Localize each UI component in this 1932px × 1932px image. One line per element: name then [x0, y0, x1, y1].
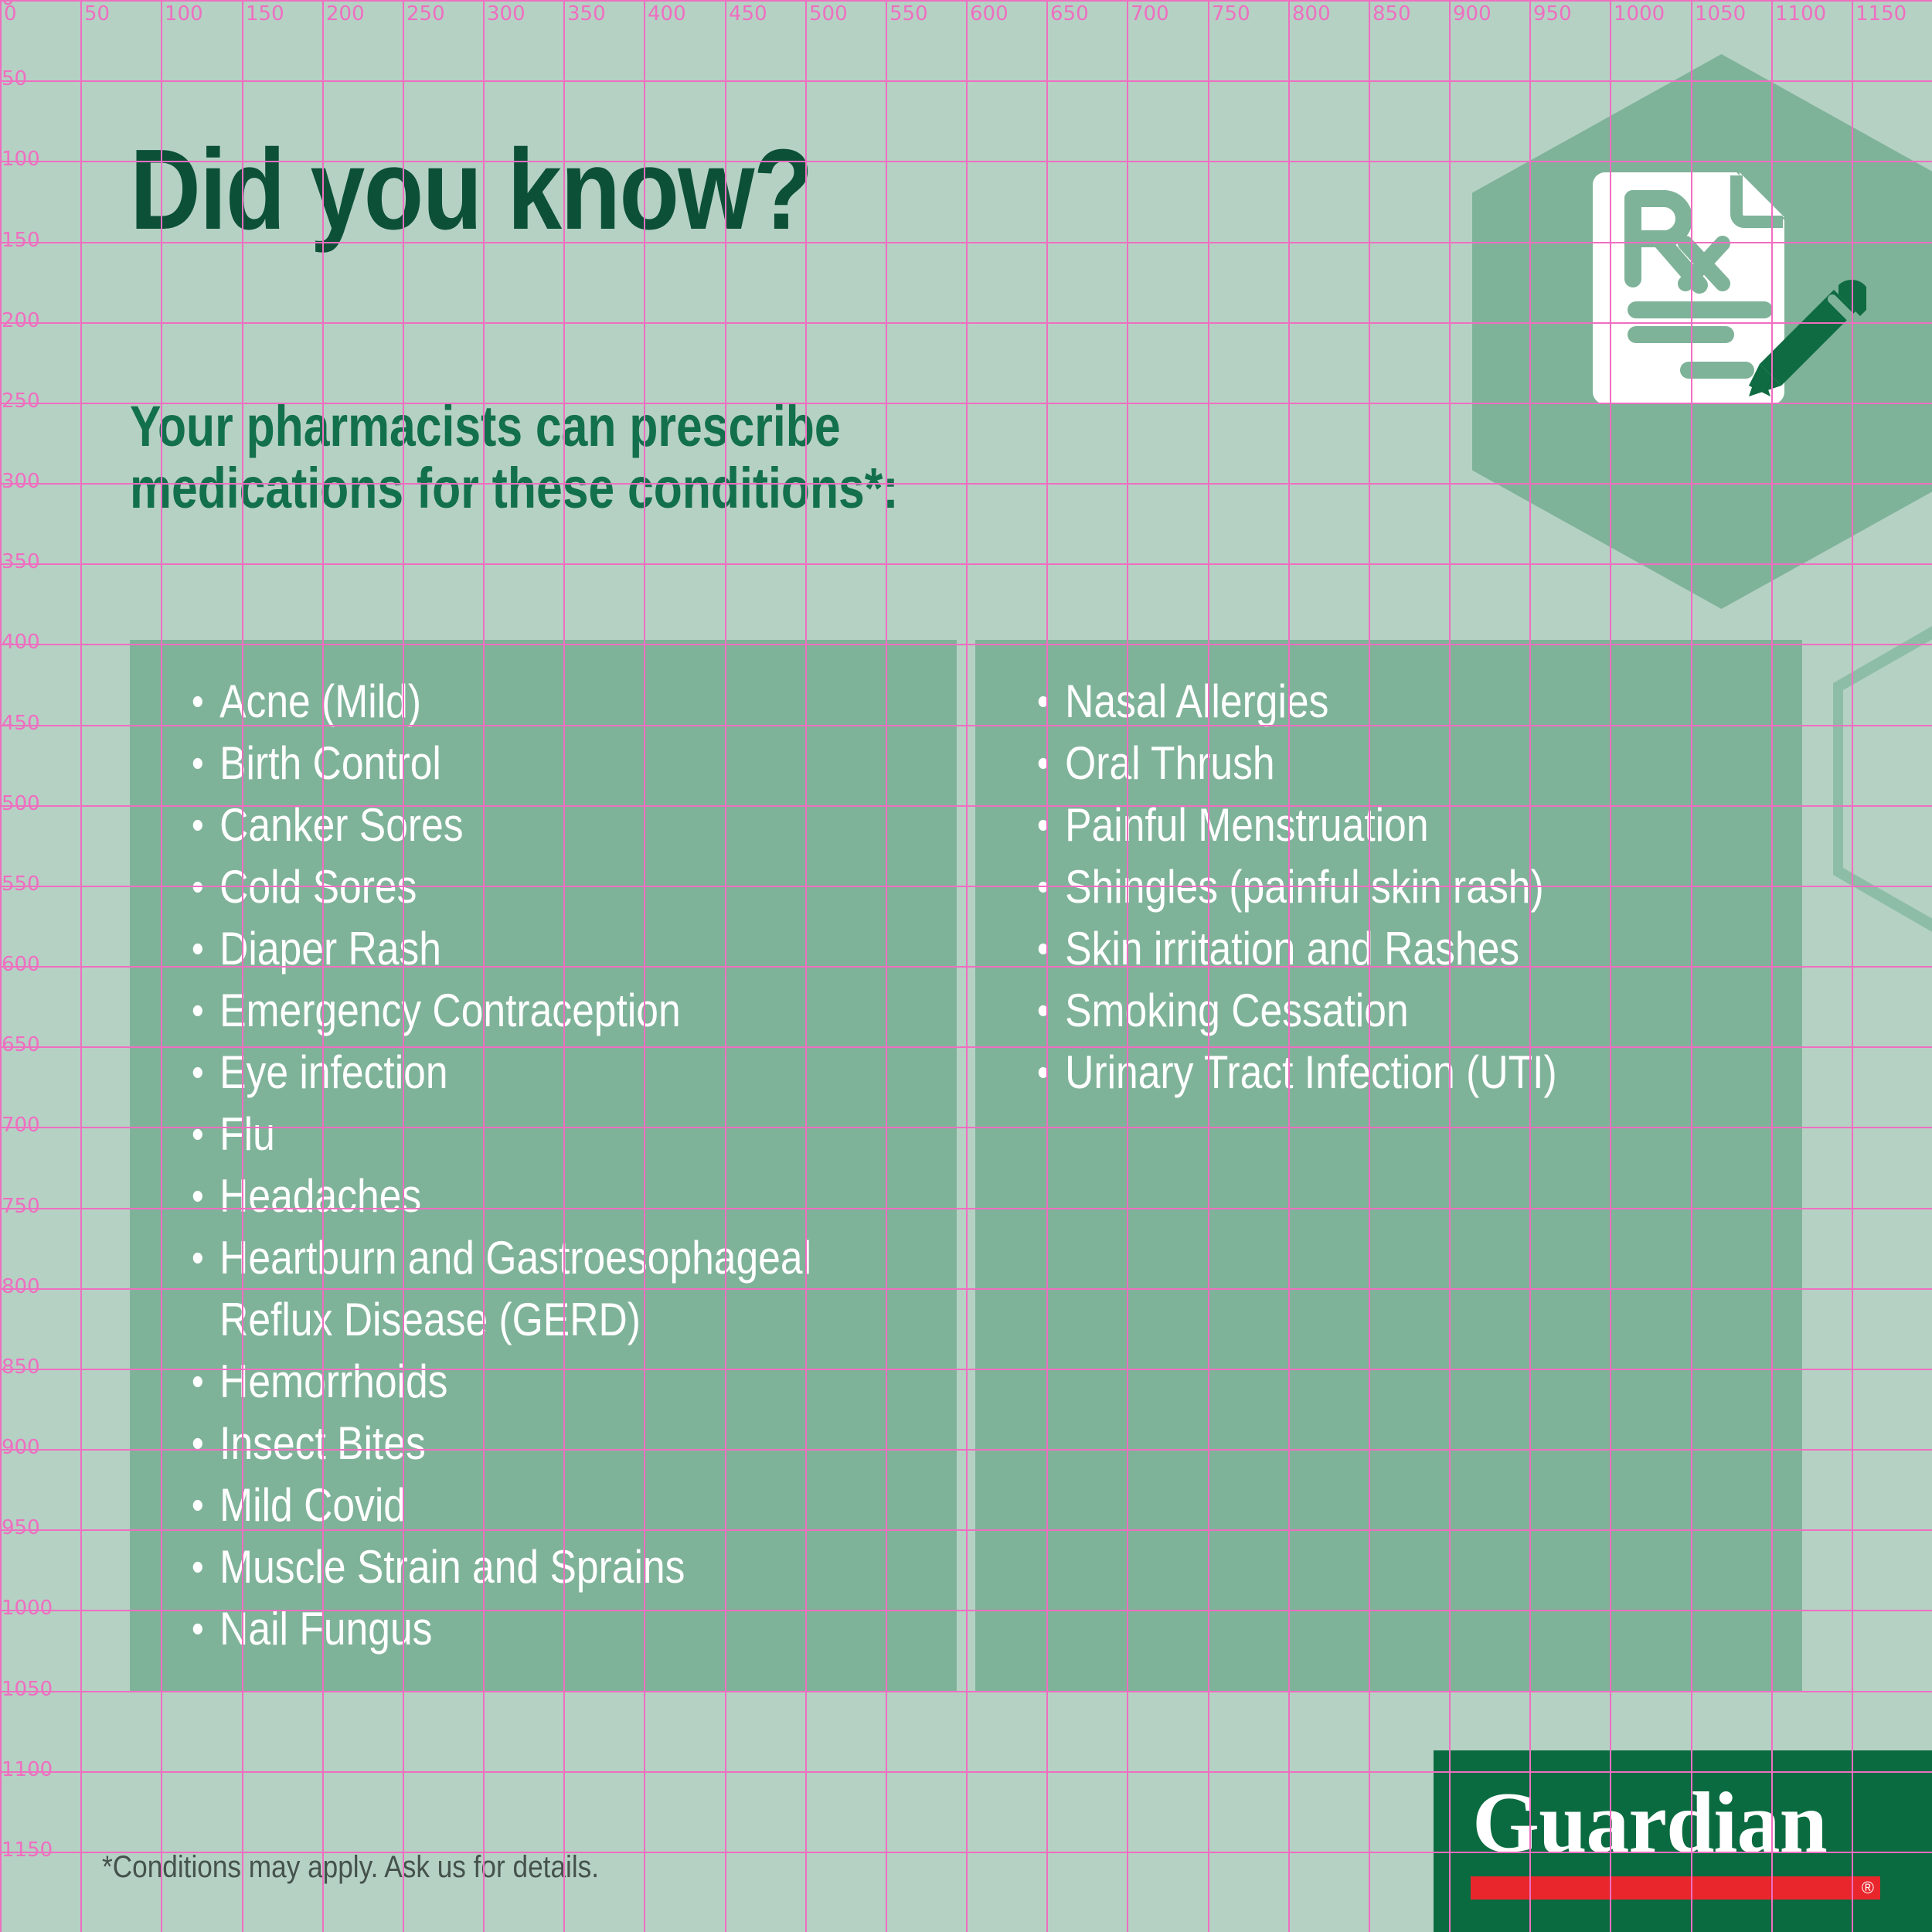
list-item: Painful Menstruation [1037, 794, 1689, 856]
prescription-pad-icon [1588, 158, 1866, 421]
grid-label-x: 250 [406, 3, 445, 25]
grid-label-x: 500 [809, 3, 848, 25]
conditions-panel-right: Nasal AllergiesOral ThrushPainful Menstr… [975, 640, 1802, 1691]
grid-label-y: 800 [2, 1276, 40, 1298]
registered-trademark-icon: ® [1862, 1877, 1874, 1899]
grid-label-y: 350 [2, 551, 40, 573]
list-item: Hemorrhoids [192, 1351, 843, 1413]
grid-label-x: 750 [1212, 3, 1250, 25]
grid-label-x: 700 [1131, 3, 1169, 25]
list-item: Heartburn and Gastroesophageal Reflux Di… [192, 1227, 843, 1351]
page-subtitle: Your pharmacists can prescribe medicatio… [130, 396, 899, 519]
grid-label-y: 1100 [2, 1759, 53, 1781]
guardian-red-bar: ® [1471, 1876, 1880, 1900]
grid-label-x: 0 [4, 3, 17, 25]
grid-label-x: 900 [1453, 3, 1492, 25]
grid-label-y: 950 [2, 1517, 40, 1539]
grid-label-x: 800 [1292, 3, 1331, 25]
list-item: Oral Thrush [1037, 733, 1689, 794]
list-item: Mild Covid [192, 1475, 843, 1536]
grid-label-x: 650 [1050, 3, 1089, 25]
grid-label-y: 200 [2, 310, 40, 332]
grid-label-y: 100 [2, 148, 40, 170]
grid-label-y: 1150 [2, 1839, 53, 1861]
conditions-list-left: Acne (Mild)Birth ControlCanker SoresCold… [192, 671, 949, 1660]
subtitle-line-1: Your pharmacists can prescribe [130, 396, 899, 457]
infographic-poster: Did you know? Your pharmacists can presc… [0, 0, 1932, 1932]
grid-label-y: 500 [2, 793, 40, 815]
list-item: Muscle Strain and Sprains [192, 1536, 843, 1598]
list-item: Shingles (painful skin rash) [1037, 856, 1689, 918]
grid-line-horizontal [0, 1691, 1932, 1692]
grid-label-x: 350 [567, 3, 606, 25]
list-item: Cold Sores [192, 856, 843, 918]
list-item: Acne (Mild) [192, 671, 843, 733]
footnote-text: *Conditions may apply. Ask us for detail… [102, 1850, 599, 1885]
grid-label-x: 600 [970, 3, 1009, 25]
grid-label-x: 300 [487, 3, 526, 25]
list-item: Smoking Cessation [1037, 980, 1689, 1042]
subtitle-line-2: medications for these conditions*: [130, 457, 899, 519]
grid-label-y: 300 [2, 471, 40, 492]
grid-line-vertical [966, 0, 968, 1932]
conditions-list-right: Nasal AllergiesOral ThrushPainful Menstr… [1037, 671, 1794, 1104]
conditions-panel-left: Acne (Mild)Birth ControlCanker SoresCold… [130, 640, 957, 1691]
grid-label-x: 1150 [1855, 3, 1906, 25]
list-item: Nasal Allergies [1037, 671, 1689, 733]
list-item: Urinary Tract Infection (UTI) [1037, 1042, 1689, 1104]
grid-label-y: 1050 [2, 1679, 53, 1700]
grid-label-y: 450 [2, 713, 40, 734]
list-item: Birth Control [192, 733, 843, 794]
grid-label-y: 600 [2, 954, 40, 975]
grid-line-horizontal [0, 80, 1932, 82]
grid-label-x: 150 [246, 3, 284, 25]
grid-label-x: 1100 [1775, 3, 1826, 25]
guardian-wordmark: Guardian [1472, 1780, 1827, 1866]
grid-label-y: 250 [2, 390, 40, 412]
grid-label-y: 750 [2, 1196, 40, 1217]
page-title: Did you know? [130, 133, 812, 247]
grid-label-x: 200 [326, 3, 365, 25]
list-item: Flu [192, 1104, 843, 1165]
grid-line-horizontal [0, 0, 1932, 2]
grid-line-vertical [80, 0, 82, 1932]
grid-label-x: 50 [84, 3, 110, 25]
grid-label-x: 550 [889, 3, 928, 25]
list-item: Canker Sores [192, 794, 843, 856]
list-item: Diaper Rash [192, 918, 843, 980]
grid-label-y: 50 [2, 68, 27, 90]
grid-label-y: 0 [2, 0, 15, 9]
list-item: Insect Bites [192, 1413, 843, 1475]
grid-label-y: 900 [2, 1437, 40, 1458]
grid-label-y: 850 [2, 1356, 40, 1378]
list-item: Skin irritation and Rashes [1037, 918, 1689, 980]
grid-label-y: 700 [2, 1114, 40, 1136]
list-item: Nail Fungus [192, 1598, 843, 1660]
grid-label-x: 850 [1372, 3, 1411, 25]
grid-label-x: 1050 [1695, 3, 1746, 25]
grid-label-x: 950 [1533, 3, 1572, 25]
grid-label-x: 400 [648, 3, 686, 25]
list-item: Headaches [192, 1165, 843, 1227]
grid-label-x: 1000 [1614, 3, 1665, 25]
grid-label-y: 650 [2, 1034, 40, 1056]
grid-label-y: 400 [2, 631, 40, 653]
grid-label-x: 450 [729, 3, 767, 25]
grid-label-y: 150 [2, 230, 40, 251]
guardian-logo: Guardian ® [1434, 1750, 1932, 1932]
grid-label-y: 550 [2, 873, 40, 895]
grid-line-vertical [0, 0, 2, 1932]
list-item: Eye infection [192, 1042, 843, 1104]
list-item: Emergency Contraception [192, 980, 843, 1042]
grid-label-x: 100 [165, 3, 203, 25]
grid-label-y: 1000 [2, 1597, 53, 1619]
